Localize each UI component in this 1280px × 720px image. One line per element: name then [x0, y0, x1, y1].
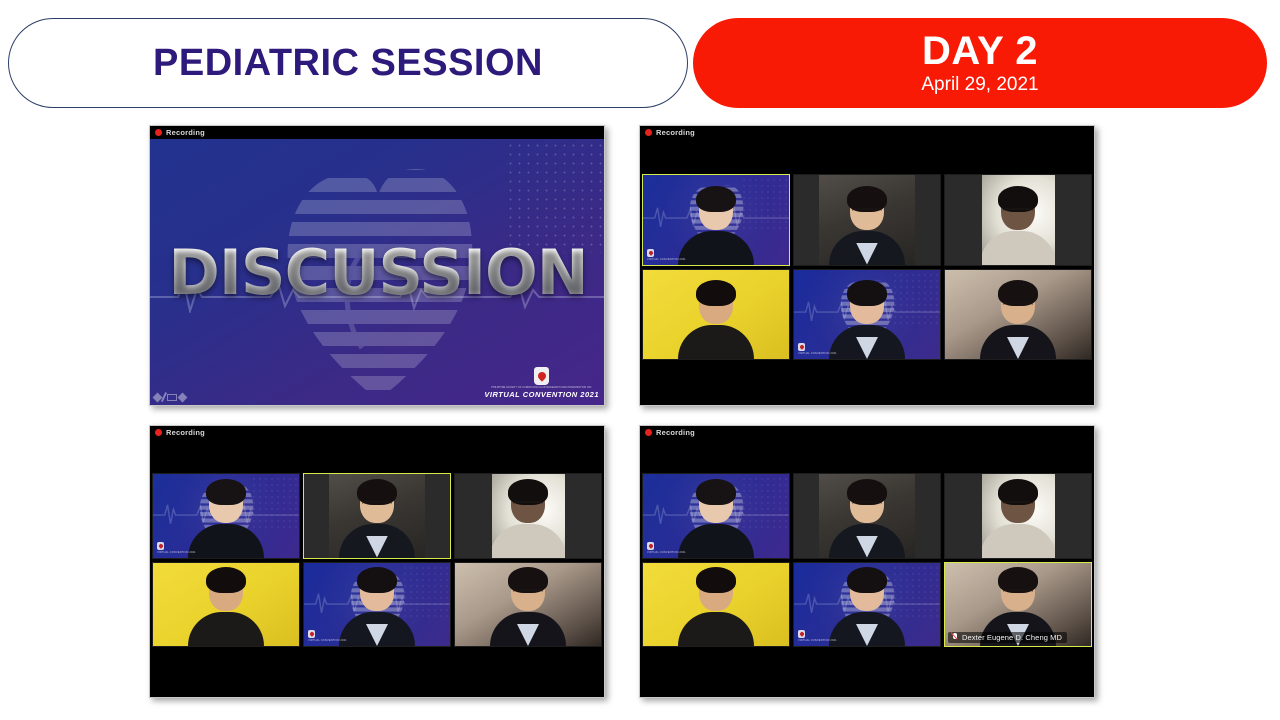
watermark-text: VIRTUAL CONVENTION 2021	[798, 639, 837, 642]
participant-figure	[188, 571, 264, 646]
participant-video	[455, 563, 601, 647]
participant-tile[interactable]	[944, 269, 1092, 361]
convention-logo: PHILIPPINE SOCIETY OF CARDIOVASCULAR RES…	[484, 367, 599, 399]
screenshot-panel-bottom-left: Recording VIRTUAL CONVENTION 2021VIRTUAL…	[149, 425, 605, 698]
participant-video	[945, 175, 1091, 265]
society-heart-logo-icon	[798, 630, 805, 638]
participant-figure	[678, 571, 754, 646]
participant-figure	[678, 483, 754, 558]
recording-dot-icon	[155, 429, 162, 436]
recording-dot-icon	[645, 429, 652, 436]
video-letterbox	[915, 175, 940, 265]
participant-name: Dexter Eugene D. Cheng MD	[962, 633, 1062, 642]
watermark-text: VIRTUAL CONVENTION 2021	[798, 352, 837, 355]
virtual-background-watermark: VIRTUAL CONVENTION 2021	[647, 249, 686, 261]
convention-tagline: VIRTUAL CONVENTION 2021	[484, 390, 599, 399]
society-heart-logo-icon	[308, 630, 315, 638]
video-letterbox	[1055, 175, 1092, 265]
participant-video	[794, 474, 940, 558]
participant-video: VIRTUAL CONVENTION 2021	[643, 474, 789, 558]
virtual-background-watermark: VIRTUAL CONVENTION 2021	[157, 542, 196, 554]
video-letterbox	[945, 175, 982, 265]
participant-tile[interactable]	[454, 473, 602, 559]
participant-video: VIRTUAL CONVENTION 2021	[643, 175, 789, 265]
society-heart-logo-icon	[647, 249, 654, 257]
participant-tile[interactable]: VIRTUAL CONVENTION 2021	[303, 562, 451, 648]
participant-tile[interactable]	[642, 269, 790, 361]
society-heart-logo-icon	[534, 367, 549, 385]
participant-figure	[339, 483, 415, 558]
participant-tile[interactable]	[793, 174, 941, 266]
watermark-text: VIRTUAL CONVENTION 2021	[157, 551, 196, 554]
virtual-background-watermark: VIRTUAL CONVENTION 2021	[308, 630, 347, 642]
participant-figure	[188, 483, 264, 558]
recording-dot-icon	[645, 129, 652, 136]
recording-indicator: Recording	[150, 126, 604, 139]
participant-tile[interactable]	[152, 562, 300, 648]
participant-video	[304, 474, 450, 558]
participant-video	[643, 563, 789, 647]
participant-gallery: VIRTUAL CONVENTION 2021VIRTUAL CONVENTIO…	[640, 473, 1094, 647]
participant-tile[interactable]: VIRTUAL CONVENTION 2021	[793, 562, 941, 648]
slide-headline: DISCUSSION	[150, 139, 605, 405]
participant-video	[945, 474, 1091, 558]
participant-figure	[490, 483, 566, 558]
participant-video	[153, 563, 299, 647]
participant-gallery: VIRTUAL CONVENTION 2021VIRTUAL CONVENTIO…	[150, 473, 604, 647]
virtual-background-watermark: VIRTUAL CONVENTION 2021	[798, 343, 837, 355]
presentation-slide: PEDIATRIC SESSION DAY 2 April 29, 2021 R…	[0, 0, 1280, 720]
recording-dot-icon	[155, 129, 162, 136]
video-letterbox	[455, 474, 492, 558]
recording-label: Recording	[656, 128, 695, 137]
participant-figure	[339, 571, 415, 646]
video-letterbox	[794, 175, 819, 265]
participant-video: VIRTUAL CONVENTION 2021	[304, 563, 450, 647]
participant-video	[945, 270, 1091, 360]
session-title-pill: PEDIATRIC SESSION	[8, 18, 688, 108]
participant-figure	[678, 284, 754, 359]
participant-name-label: Dexter Eugene D. Cheng MD	[948, 632, 1067, 643]
society-heart-logo-icon	[647, 542, 654, 550]
video-letterbox	[304, 474, 329, 558]
participant-tile[interactable]	[303, 473, 451, 559]
watermark-text: VIRTUAL CONVENTION 2021	[308, 639, 347, 642]
virtual-background-watermark: VIRTUAL CONVENTION 2021	[647, 542, 686, 554]
video-letterbox	[1055, 474, 1092, 558]
stamp-icon[interactable]	[167, 394, 177, 401]
participant-video	[794, 175, 940, 265]
shared-screen-slide: DISCUSSION PHILIPPINE SOCIETY OF CARDIOV…	[150, 139, 605, 405]
participant-video: VIRTUAL CONVENTION 2021	[794, 563, 940, 647]
participant-gallery: VIRTUAL CONVENTION 2021VIRTUAL CONVENTIO…	[640, 174, 1094, 360]
screenshot-panel-bottom-right: Recording VIRTUAL CONVENTION 2021VIRTUAL…	[639, 425, 1095, 698]
participant-figure	[980, 284, 1056, 359]
recording-indicator: Recording	[150, 426, 604, 439]
participant-tile[interactable]	[944, 473, 1092, 559]
participant-video: VIRTUAL CONVENTION 2021	[153, 474, 299, 558]
annotation-toolbar[interactable]	[154, 392, 186, 402]
society-org-line: PHILIPPINE SOCIETY OF CARDIOVASCULAR RES…	[491, 386, 592, 389]
recording-label: Recording	[166, 128, 205, 137]
participant-tile[interactable]: Dexter Eugene D. Cheng MD	[944, 562, 1092, 648]
arrow-icon[interactable]	[178, 392, 188, 402]
participant-tile[interactable]: VIRTUAL CONVENTION 2021	[642, 473, 790, 559]
participant-tile[interactable]	[454, 562, 602, 648]
participant-video	[455, 474, 601, 558]
video-letterbox	[565, 474, 602, 558]
participant-tile[interactable]	[793, 473, 941, 559]
participant-figure	[980, 190, 1056, 265]
participant-figure	[490, 571, 566, 646]
watermark-text: VIRTUAL CONVENTION 2021	[647, 258, 686, 261]
video-letterbox	[425, 474, 450, 558]
participant-tile[interactable]	[642, 562, 790, 648]
participant-figure	[829, 571, 905, 646]
society-heart-logo-icon	[157, 542, 164, 550]
day-date: April 29, 2021	[921, 73, 1038, 98]
participant-tile[interactable]: VIRTUAL CONVENTION 2021	[642, 174, 790, 266]
page-title: PEDIATRIC SESSION	[153, 42, 543, 85]
participant-video	[643, 270, 789, 360]
participant-tile[interactable]	[944, 174, 1092, 266]
video-letterbox	[915, 474, 940, 558]
participant-tile[interactable]: VIRTUAL CONVENTION 2021	[152, 473, 300, 559]
recording-indicator: Recording	[640, 426, 1094, 439]
participant-figure	[829, 284, 905, 359]
participant-figure	[829, 190, 905, 265]
participant-figure	[829, 483, 905, 558]
participant-video: VIRTUAL CONVENTION 2021	[794, 270, 940, 360]
society-heart-logo-icon	[798, 343, 805, 351]
participant-figure	[980, 483, 1056, 558]
recording-indicator: Recording	[640, 126, 1094, 139]
recording-label: Recording	[166, 428, 205, 437]
recording-label: Recording	[656, 428, 695, 437]
participant-tile[interactable]: VIRTUAL CONVENTION 2021	[793, 269, 941, 361]
day-badge: DAY 2 April 29, 2021	[693, 18, 1267, 108]
virtual-background-watermark: VIRTUAL CONVENTION 2021	[798, 630, 837, 642]
screenshot-panel-top-left: Recording	[149, 125, 605, 406]
day-label: DAY 2	[922, 30, 1038, 72]
watermark-text: VIRTUAL CONVENTION 2021	[647, 551, 686, 554]
video-letterbox	[794, 474, 819, 558]
participant-figure	[678, 190, 754, 265]
slide-headline-text: DISCUSSION	[168, 236, 587, 309]
video-letterbox	[945, 474, 982, 558]
mic-muted-icon	[951, 633, 958, 642]
screenshot-panel-top-right: Recording VIRTUAL CONVENTION 2021VIRTUAL…	[639, 125, 1095, 406]
